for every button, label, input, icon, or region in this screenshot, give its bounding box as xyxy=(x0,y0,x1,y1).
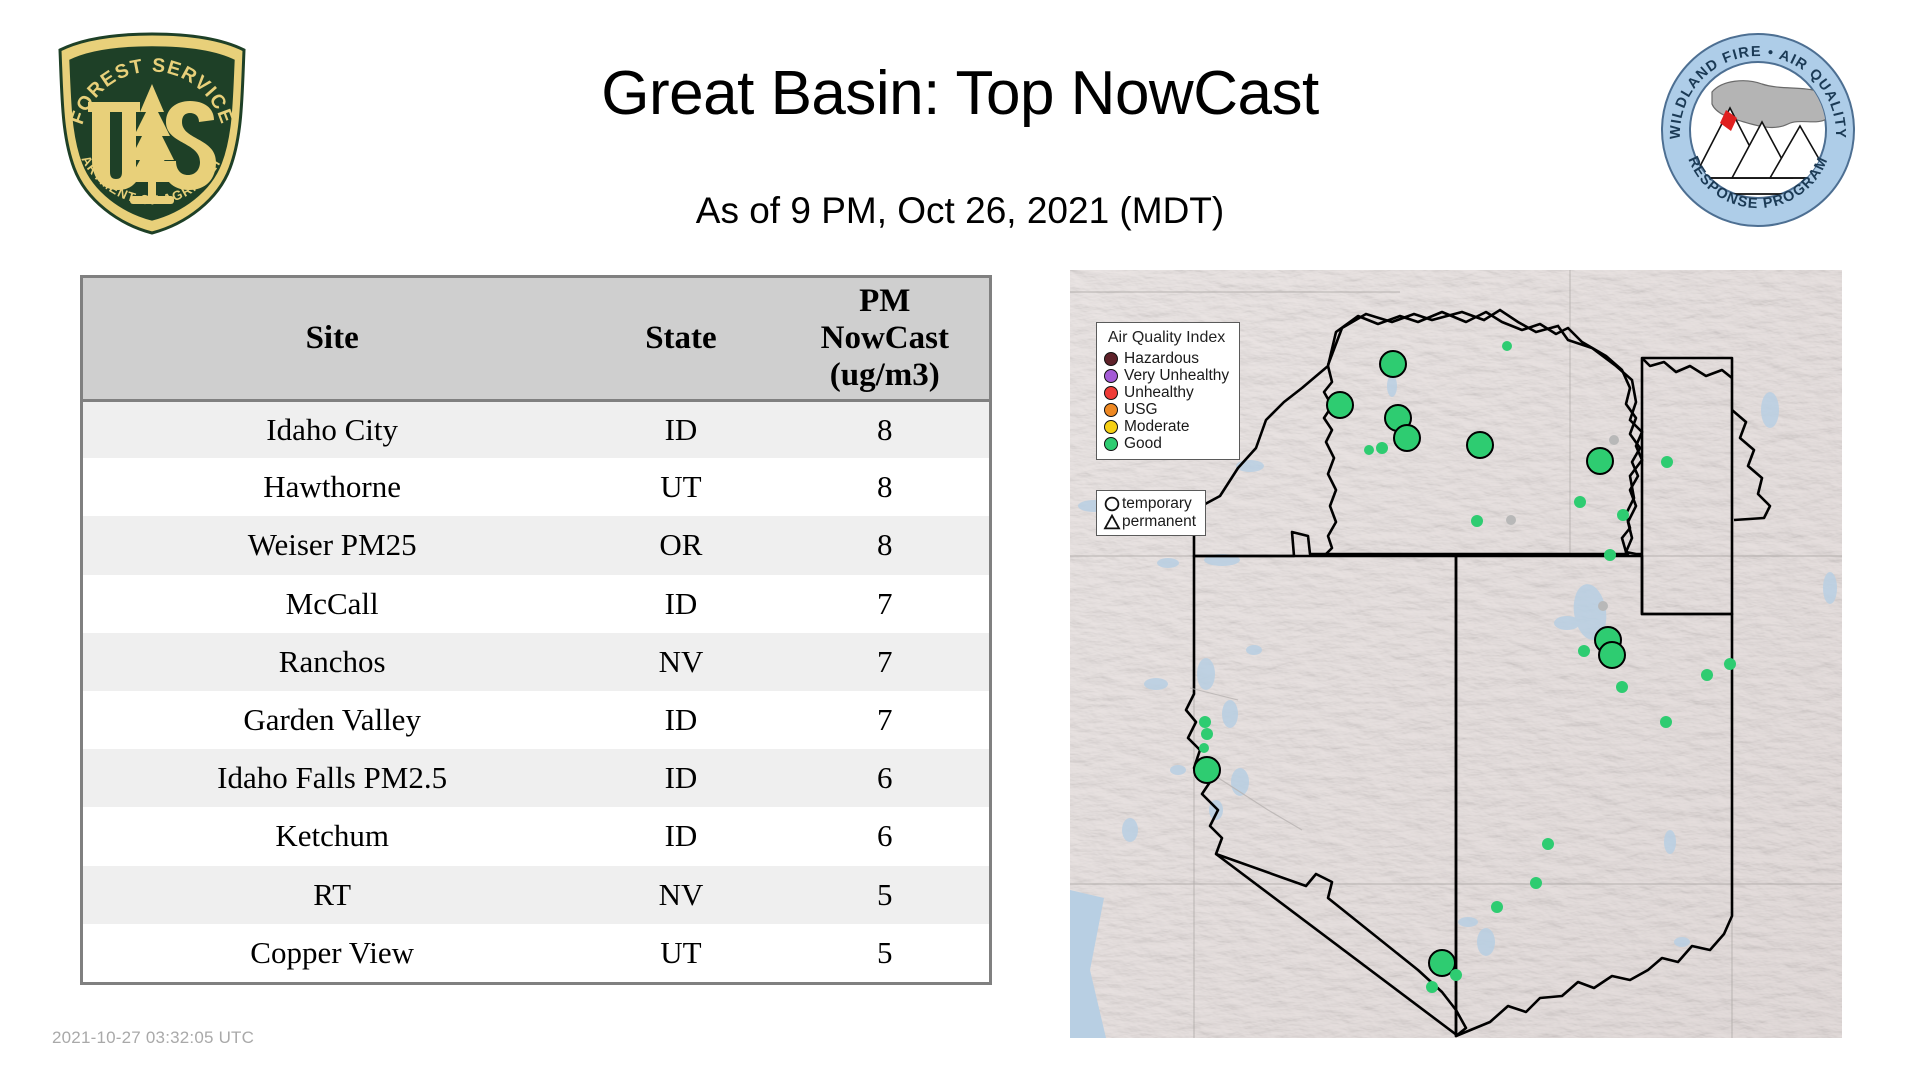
map-monitor-marker-small[interactable] xyxy=(1199,743,1209,753)
site-cell: Idaho City xyxy=(83,400,581,458)
column-header-pm-line1: PM xyxy=(787,283,983,320)
pm-cell: 5 xyxy=(781,924,989,982)
state-cell: NV xyxy=(581,866,780,924)
site-cell: RT xyxy=(83,866,581,924)
aqi-legend-row: Unhealthy xyxy=(1104,384,1229,401)
aqi-legend-row: Good xyxy=(1104,435,1229,452)
table-header-row: Site State PM NowCast (ug/m3) xyxy=(83,278,989,400)
column-header-state[interactable]: State xyxy=(581,278,780,400)
map-monitor-marker-small[interactable] xyxy=(1199,716,1211,728)
map-monitor-marker-small[interactable] xyxy=(1617,509,1629,521)
aqi-legend-items: HazardousVery UnhealthyUnhealthyUSGModer… xyxy=(1104,350,1229,452)
map-monitor-marker-small[interactable] xyxy=(1450,969,1462,981)
pm-cell: 7 xyxy=(781,691,989,749)
site-cell: Hawthorne xyxy=(83,458,581,516)
table-row[interactable]: KetchumID6 xyxy=(83,807,989,865)
symbol-legend-label-permanent: permanent xyxy=(1122,514,1196,530)
pm-cell: 6 xyxy=(781,807,989,865)
page-title: Great Basin: Top NowCast xyxy=(0,58,1920,129)
map-monitor-marker-small[interactable] xyxy=(1364,445,1374,455)
table-row[interactable]: RTNV5 xyxy=(83,866,989,924)
map-monitor-marker-small[interactable] xyxy=(1491,901,1503,913)
site-cell: Ketchum xyxy=(83,807,581,865)
state-cell: NV xyxy=(581,633,780,691)
aqi-legend-label: Moderate xyxy=(1124,419,1189,435)
state-cell: UT xyxy=(581,924,780,982)
map-monitor-marker-small[interactable] xyxy=(1660,716,1672,728)
table-row[interactable]: McCallID7 xyxy=(83,575,989,633)
state-cell: ID xyxy=(581,400,780,458)
symbol-legend-row-permanent: permanent xyxy=(1102,513,1196,531)
site-cell: Weiser PM25 xyxy=(83,516,581,574)
column-header-pm-nowcast[interactable]: PM NowCast (ug/m3) xyxy=(781,278,989,400)
map-monitor-marker-small[interactable] xyxy=(1661,456,1673,468)
map-monitor-marker-small[interactable] xyxy=(1616,681,1628,693)
aqi-legend-swatch-icon xyxy=(1104,437,1118,451)
map-monitor-marker-small[interactable] xyxy=(1598,601,1608,611)
state-cell: ID xyxy=(581,749,780,807)
pm-cell: 6 xyxy=(781,749,989,807)
pm-cell: 5 xyxy=(781,866,989,924)
nowcast-table-container: Site State PM NowCast (ug/m3) Idaho City… xyxy=(80,275,992,985)
map-monitor-marker-large[interactable] xyxy=(1598,641,1626,669)
map-monitor-marker-large[interactable] xyxy=(1586,447,1614,475)
table-row[interactable]: HawthorneUT8 xyxy=(83,458,989,516)
generated-timestamp: 2021-10-27 03:32:05 UTC xyxy=(52,1028,254,1048)
table-row[interactable]: Idaho CityID8 xyxy=(83,400,989,458)
table-row[interactable]: Garden ValleyID7 xyxy=(83,691,989,749)
state-cell: UT xyxy=(581,458,780,516)
table-row[interactable]: RanchosNV7 xyxy=(83,633,989,691)
map-monitor-marker-large[interactable] xyxy=(1193,756,1221,784)
site-cell: Ranchos xyxy=(83,633,581,691)
nowcast-table: Site State PM NowCast (ug/m3) Idaho City… xyxy=(83,278,989,982)
state-cell: ID xyxy=(581,575,780,633)
pm-cell: 8 xyxy=(781,400,989,458)
map-monitor-marker-small[interactable] xyxy=(1506,515,1516,525)
slide-root: FOREST SERVICE DEPARTMENT OF AGRICULTURE… xyxy=(0,0,1920,1080)
pm-cell: 7 xyxy=(781,633,989,691)
map-monitor-marker-small[interactable] xyxy=(1376,442,1388,454)
aqi-legend-row: USG xyxy=(1104,401,1229,418)
table-row[interactable]: Weiser PM25OR8 xyxy=(83,516,989,574)
map-monitor-marker-small[interactable] xyxy=(1604,549,1616,561)
aqi-legend-row: Hazardous xyxy=(1104,350,1229,367)
site-cell: Garden Valley xyxy=(83,691,581,749)
map-monitor-marker-small[interactable] xyxy=(1471,515,1483,527)
map-monitor-marker-small[interactable] xyxy=(1201,728,1213,740)
map-monitor-marker-small[interactable] xyxy=(1724,658,1736,670)
symbol-legend: temporary permanent xyxy=(1096,490,1206,536)
map-monitor-marker-small[interactable] xyxy=(1701,669,1713,681)
map-monitor-marker-small[interactable] xyxy=(1426,981,1438,993)
state-cell: OR xyxy=(581,516,780,574)
column-header-pm-line2: NowCast xyxy=(787,320,983,357)
aqi-legend-swatch-icon xyxy=(1104,386,1118,400)
state-cell: ID xyxy=(581,807,780,865)
aqi-legend-row: Moderate xyxy=(1104,418,1229,435)
pm-cell: 7 xyxy=(781,575,989,633)
column-header-site[interactable]: Site xyxy=(83,278,581,400)
map-monitor-marker-small[interactable] xyxy=(1502,341,1512,351)
wfaqrp-logo: WILDLAND FIRE • AIR QUALITY RESPONSE PRO… xyxy=(1658,30,1858,230)
table-row[interactable]: Idaho Falls PM2.5ID6 xyxy=(83,749,989,807)
map-monitor-marker-large[interactable] xyxy=(1379,350,1407,378)
aqi-legend-label: Very Unhealthy xyxy=(1124,368,1229,384)
column-header-pm-line3: (ug/m3) xyxy=(787,357,983,394)
site-cell: McCall xyxy=(83,575,581,633)
aqi-legend-label: Unhealthy xyxy=(1124,385,1194,401)
aqi-legend-label: USG xyxy=(1124,402,1158,418)
symbol-legend-row-temporary: temporary xyxy=(1102,495,1196,513)
aqi-legend-title: Air Quality Index xyxy=(1104,329,1229,347)
aqi-legend-label: Hazardous xyxy=(1124,351,1199,367)
aqi-legend-swatch-icon xyxy=(1104,352,1118,366)
map-monitor-marker-small[interactable] xyxy=(1578,645,1590,657)
aqi-legend-swatch-icon xyxy=(1104,420,1118,434)
aqi-legend-swatch-icon xyxy=(1104,369,1118,383)
triangle-icon xyxy=(1102,513,1122,531)
aqi-legend-row: Very Unhealthy xyxy=(1104,367,1229,384)
aqi-legend: Air Quality Index HazardousVery Unhealth… xyxy=(1096,322,1240,460)
symbol-legend-label-temporary: temporary xyxy=(1122,496,1192,512)
map-monitor-marker-large[interactable] xyxy=(1393,424,1421,452)
site-cell: Copper View xyxy=(83,924,581,982)
site-cell: Idaho Falls PM2.5 xyxy=(83,749,581,807)
aqi-legend-label: Good xyxy=(1124,436,1162,452)
aqi-legend-swatch-icon xyxy=(1104,403,1118,417)
pm-cell: 8 xyxy=(781,516,989,574)
table-body: Idaho CityID8HawthorneUT8Weiser PM25OR8M… xyxy=(83,400,989,982)
state-cell: ID xyxy=(581,691,780,749)
map-monitor-marker-small[interactable] xyxy=(1574,496,1586,508)
map-monitor-marker-large[interactable] xyxy=(1466,431,1494,459)
map-monitor-marker-small[interactable] xyxy=(1530,877,1542,889)
map-monitor-marker-large[interactable] xyxy=(1326,391,1354,419)
map-monitor-marker-small[interactable] xyxy=(1609,435,1619,445)
map-monitor-marker-small[interactable] xyxy=(1542,838,1554,850)
page-subtitle: As of 9 PM, Oct 26, 2021 (MDT) xyxy=(0,190,1920,232)
circle-icon xyxy=(1102,495,1122,513)
pm-cell: 8 xyxy=(781,458,989,516)
air-quality-map[interactable]: Air Quality Index HazardousVery Unhealth… xyxy=(1070,270,1842,1038)
table-row[interactable]: Copper ViewUT5 xyxy=(83,924,989,982)
table-header: Site State PM NowCast (ug/m3) xyxy=(83,278,989,400)
